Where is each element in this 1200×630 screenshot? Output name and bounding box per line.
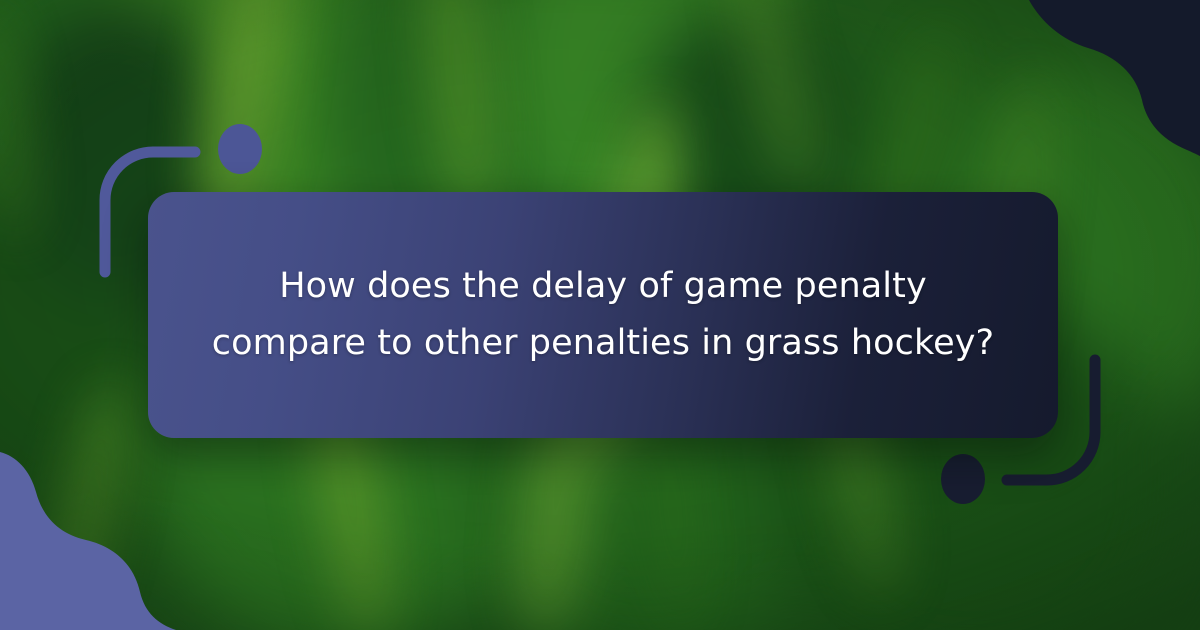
- question-text: How does the delay of game penalty compa…: [148, 258, 1058, 371]
- question-line-2: compare to other penalties in grass hock…: [194, 315, 1012, 372]
- share-card-canvas: How does the delay of game penalty compa…: [0, 0, 1200, 630]
- question-line-1: How does the delay of game penalty: [194, 258, 1012, 315]
- question-card: How does the delay of game penalty compa…: [148, 192, 1058, 438]
